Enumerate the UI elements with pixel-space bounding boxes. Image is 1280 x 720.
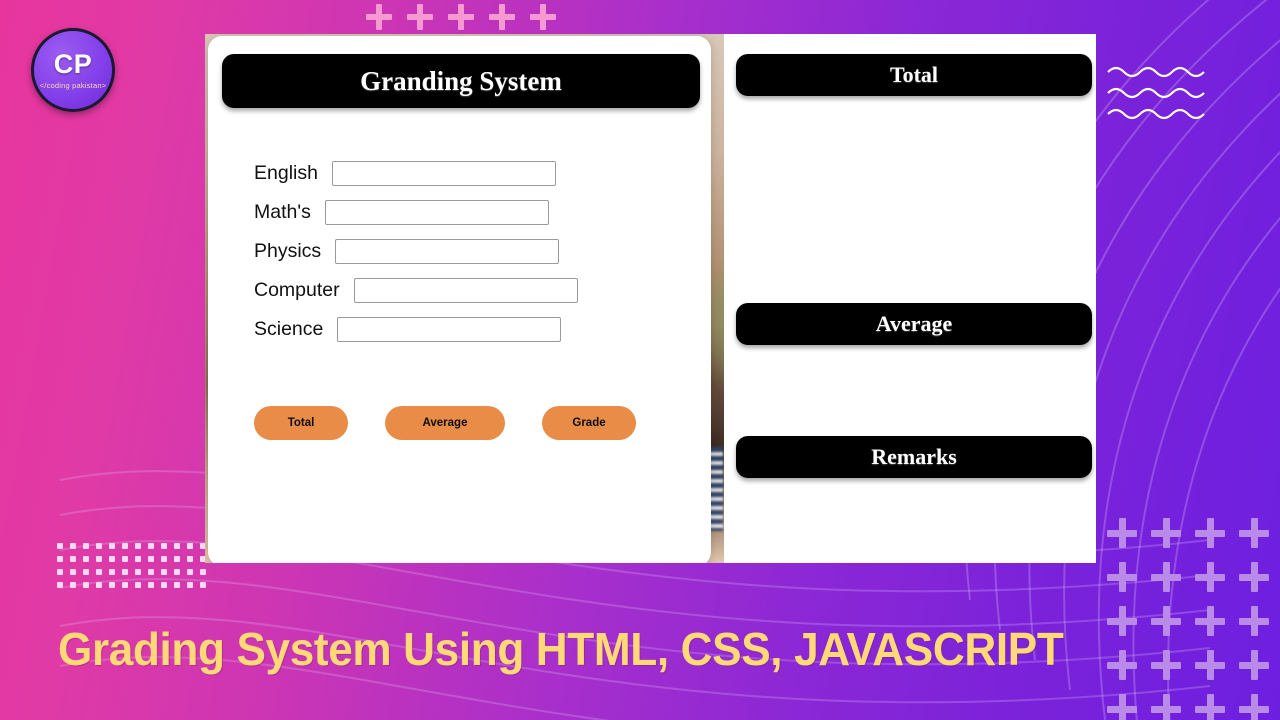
video-caption: Grading System Using HTML, CSS, JAVASCRI… (58, 622, 1191, 676)
field-row-english: English (208, 161, 711, 186)
subject-fields-list: English Math's Physics Computer Science (208, 161, 711, 356)
wave-lines-decoration (1106, 62, 1211, 124)
screen-capture-area: Granding System English Math's Physics C… (205, 34, 1096, 563)
physics-input[interactable] (335, 239, 559, 264)
plus-icon (407, 4, 433, 30)
plus-icon (1195, 650, 1225, 680)
remarks-result-header: Remarks (736, 436, 1092, 478)
science-input[interactable] (337, 317, 561, 342)
plus-icon (1239, 518, 1269, 548)
plus-icon (1151, 694, 1181, 720)
field-row-maths: Math's (208, 200, 711, 225)
plus-icon (1151, 518, 1181, 548)
plus-icon (1239, 562, 1269, 592)
label-physics: Physics (254, 240, 321, 263)
plus-icon (1195, 694, 1225, 720)
average-button[interactable]: Average (385, 406, 505, 440)
english-input[interactable] (332, 161, 556, 186)
channel-logo: CP </coding pakistan> (31, 28, 115, 112)
plus-icon (1239, 650, 1269, 680)
plus-icon (1239, 694, 1269, 720)
label-maths: Math's (254, 201, 311, 224)
total-button[interactable]: Total (254, 406, 348, 440)
plus-icon (489, 4, 515, 30)
total-result-header: Total (736, 54, 1092, 96)
dot-grid-decoration (57, 543, 213, 595)
label-science: Science (254, 318, 323, 341)
field-row-computer: Computer (208, 278, 711, 303)
grade-button[interactable]: Grade (542, 406, 636, 440)
plus-icon (448, 4, 474, 30)
plus-icon (1107, 694, 1137, 720)
plus-grid-decoration (1107, 518, 1280, 720)
action-button-row: Total Average Grade (254, 406, 636, 440)
grading-form-panel: Granding System English Math's Physics C… (208, 36, 711, 563)
label-computer: Computer (254, 279, 340, 302)
field-row-science: Science (208, 317, 711, 342)
plus-icon (1107, 562, 1137, 592)
plus-icon (366, 4, 392, 30)
plus-icon (1195, 562, 1225, 592)
maths-input[interactable] (325, 200, 549, 225)
logo-initials: CP (54, 51, 93, 78)
plus-row-decoration (366, 4, 556, 30)
plus-icon (1195, 518, 1225, 548)
results-panel: Total Average Remarks (724, 34, 1096, 563)
plus-icon (1107, 518, 1137, 548)
computer-input[interactable] (354, 278, 578, 303)
plus-icon (1151, 562, 1181, 592)
field-row-physics: Physics (208, 239, 711, 264)
logo-tagline: </coding pakistan> (40, 81, 107, 90)
plus-icon (530, 4, 556, 30)
label-english: English (254, 162, 318, 185)
slide-background: CP </coding pakistan> Granding System En… (0, 0, 1280, 720)
plus-icon (1195, 606, 1225, 636)
average-result-header: Average (736, 303, 1092, 345)
plus-icon (1239, 606, 1269, 636)
page-title: Granding System (222, 54, 700, 108)
